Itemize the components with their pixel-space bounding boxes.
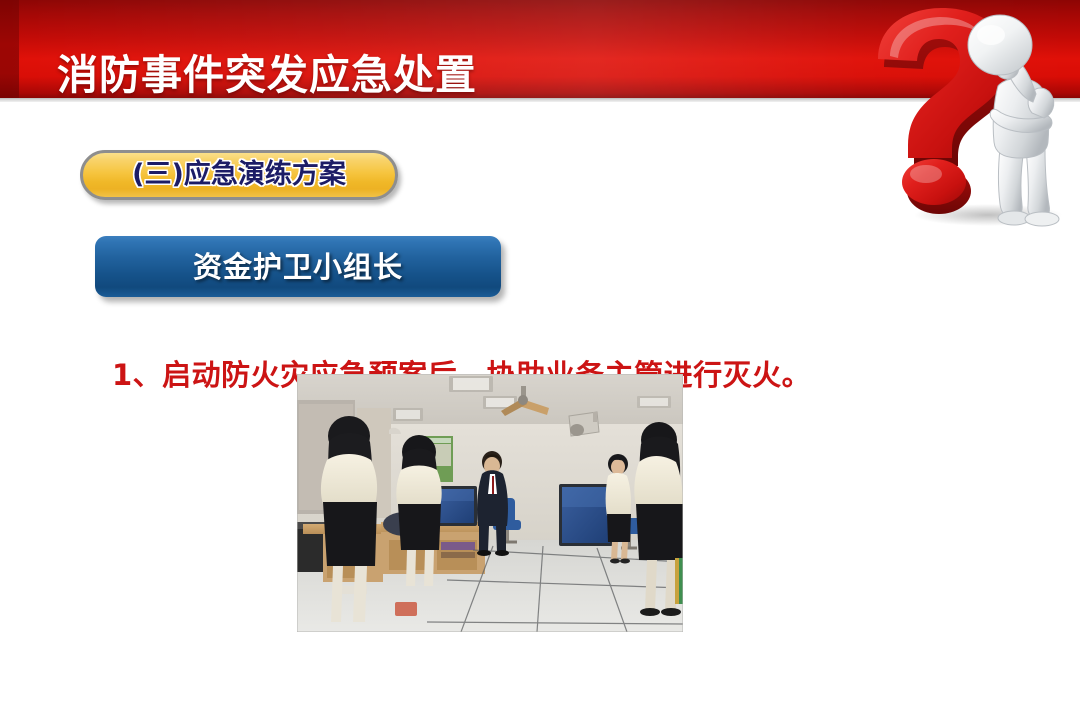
header-left-strip [0,0,19,98]
page-title: 消防事件突发应急处置 [57,48,477,102]
role-banner[interactable]: 资金护卫小组长 [95,236,501,297]
role-banner-label: 资金护卫小组长 [193,250,403,284]
office-fire-drill-photo [297,374,683,632]
section-badge[interactable]: (三)应急演练方案 [80,150,398,200]
section-badge-label: (三)应急演练方案 [132,160,346,190]
question-mark-thinker-icon [848,2,1080,230]
slide-canvas: 消防事件突发应急处置 [0,0,1080,720]
thinking-figure-glyph [968,15,1059,226]
